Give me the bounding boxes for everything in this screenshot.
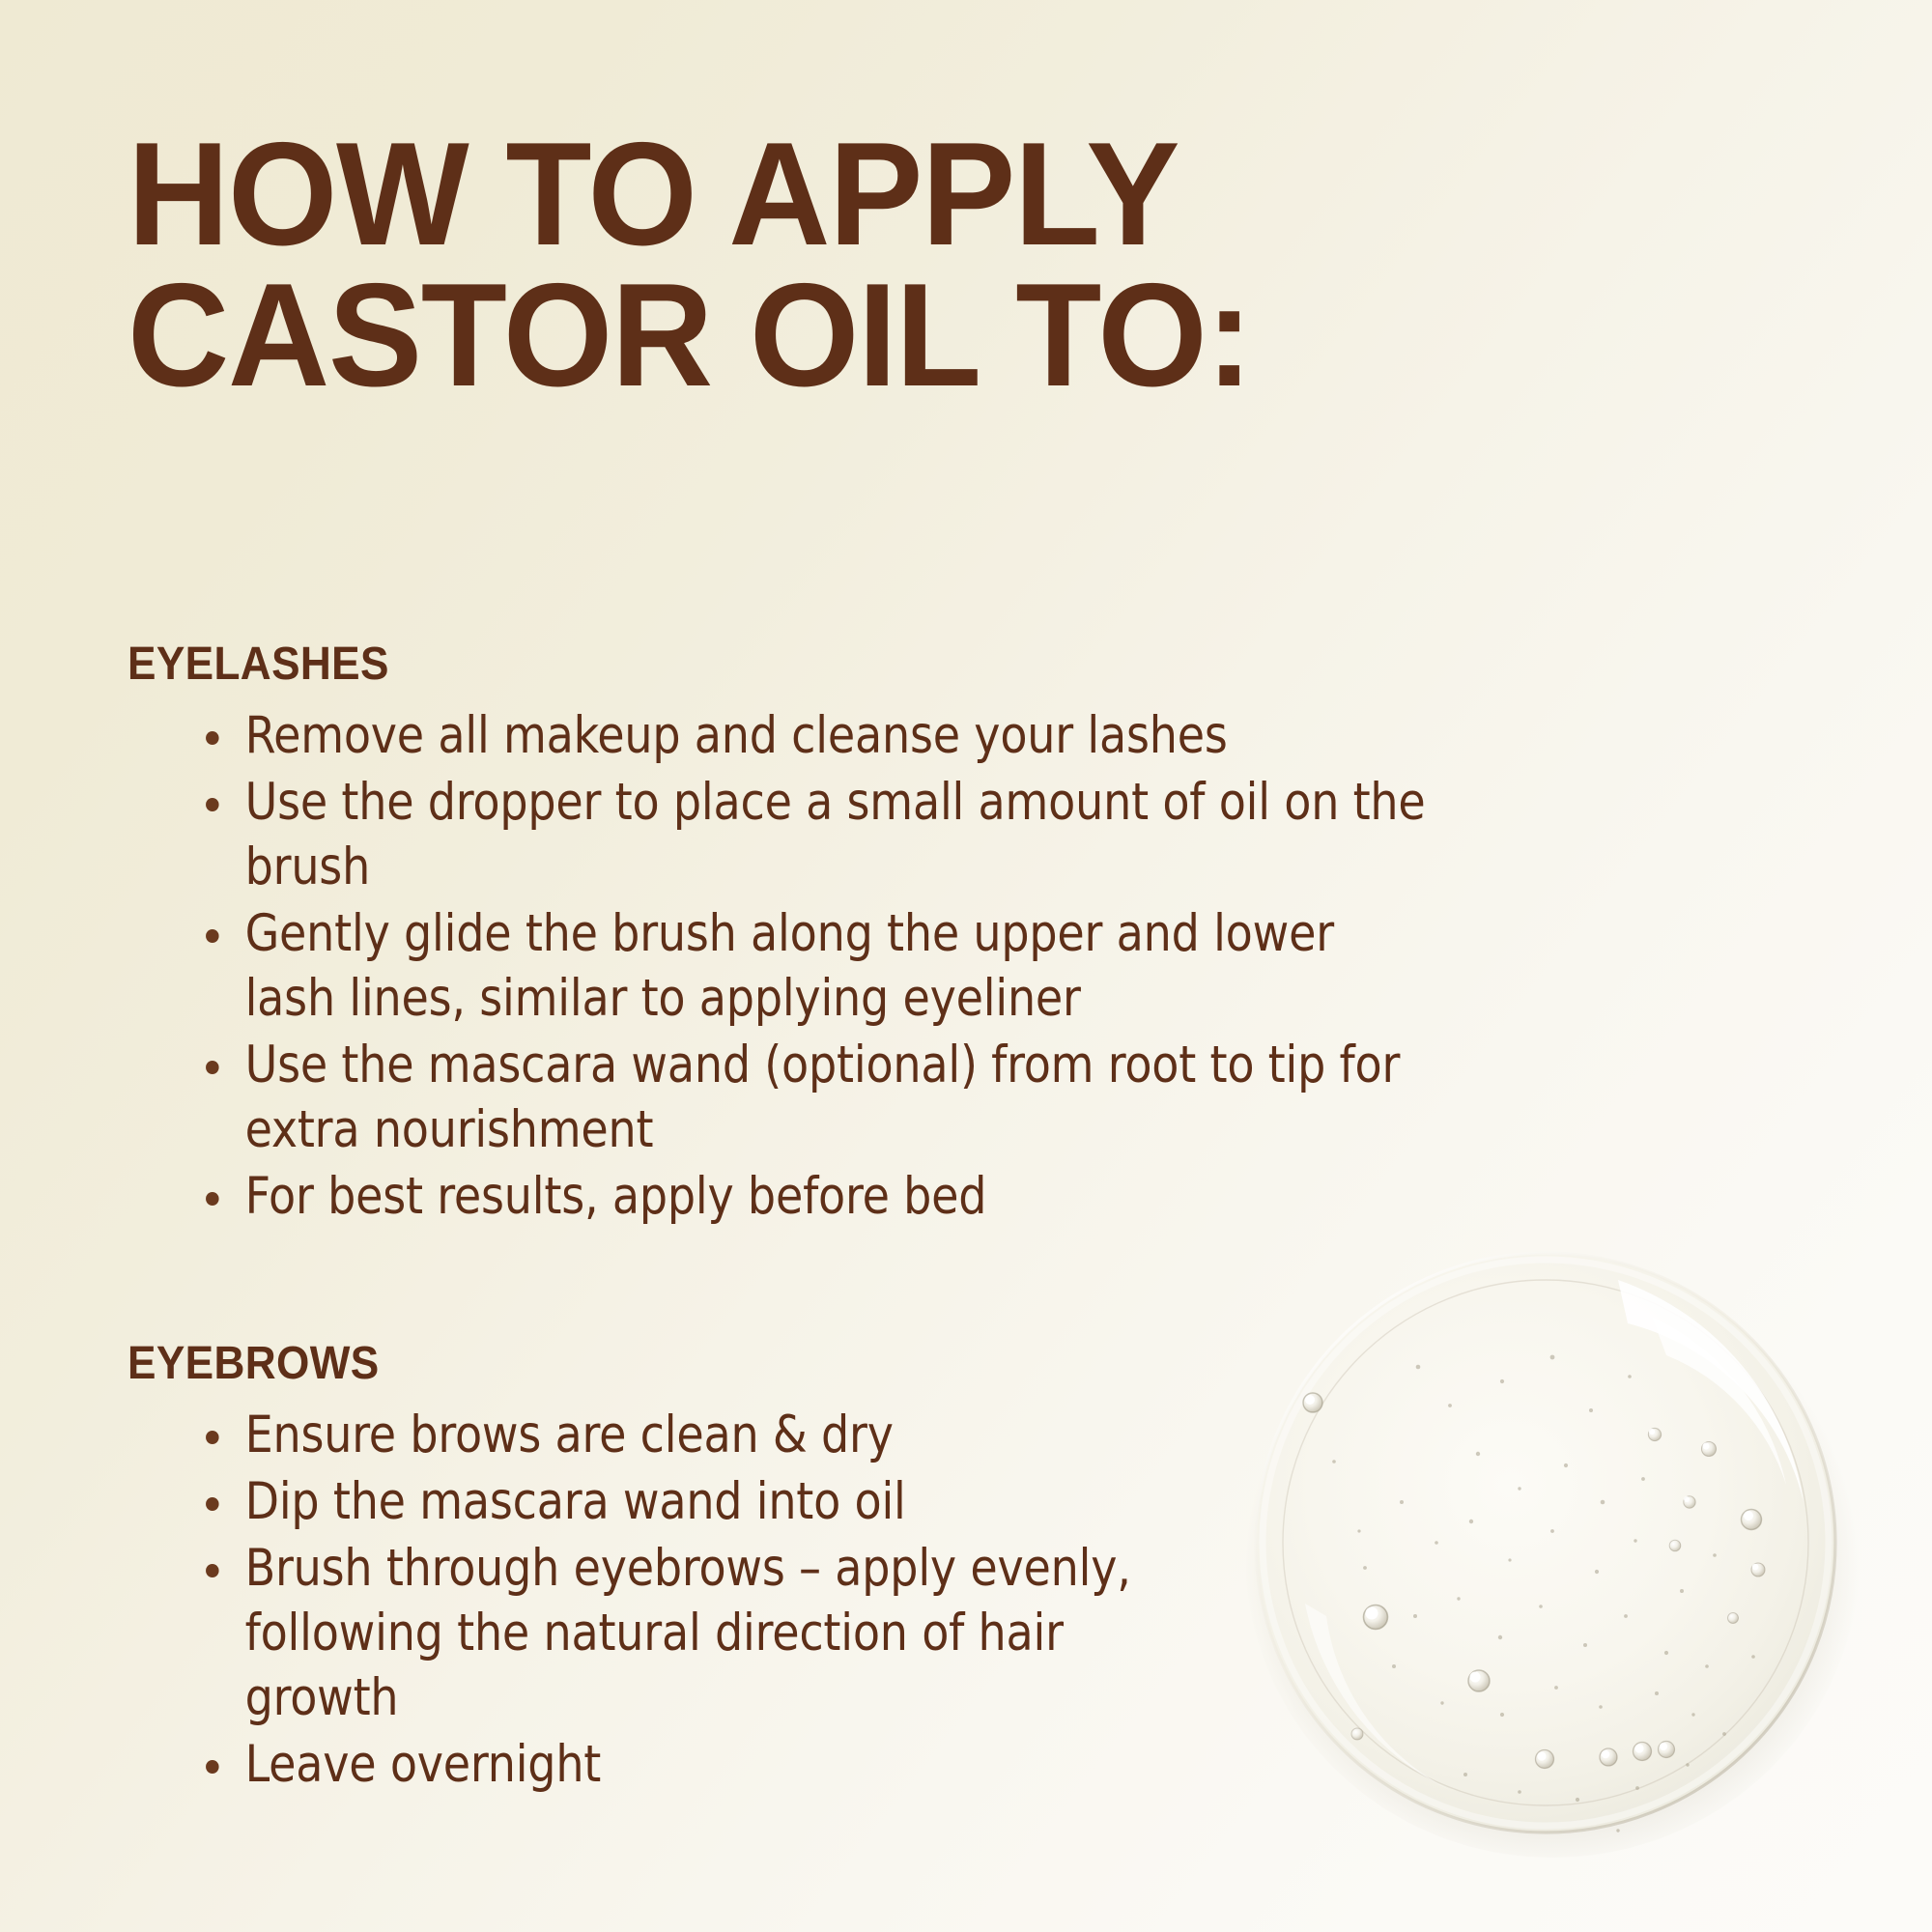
bullet-list-eyelashes: Remove all makeup and cleanse your lashe… (128, 703, 1480, 1229)
section-eyelashes: EYELASHES Remove all makeup and cleanse … (128, 638, 1480, 1229)
list-item: Remove all makeup and cleanse your lashe… (128, 703, 1433, 768)
list-item: For best results, apply before bed (128, 1164, 1433, 1229)
list-item: Use the mascara wand (optional) from roo… (128, 1033, 1433, 1162)
title-line-1: HOW TO APPLY (128, 124, 1482, 265)
list-item: Ensure brows are clean & dry (128, 1403, 1196, 1467)
list-item: Use the dropper to place a small amount … (128, 770, 1433, 899)
instructions-content: EYELASHES Remove all makeup and cleanse … (128, 638, 1480, 1799)
list-item: Leave overnight (128, 1732, 1196, 1797)
list-item: Brush through eyebrows – apply evenly, f… (128, 1536, 1196, 1730)
section-heading-eyebrows: EYEBROWS (128, 1337, 1372, 1391)
section-heading-eyelashes: EYELASHES (128, 638, 1372, 692)
list-item: Dip the mascara wand into oil (128, 1469, 1196, 1534)
page-title: HOW TO APPLY CASTOR OIL TO: (128, 124, 1538, 406)
list-item: Gently glide the brush along the upper a… (128, 901, 1433, 1031)
infographic-poster: HOW TO APPLY CASTOR OIL TO: EYELASHES Re… (0, 0, 1932, 1932)
bullet-list-eyebrows: Ensure brows are clean & dry Dip the mas… (128, 1403, 1480, 1797)
section-eyebrows: EYEBROWS Ensure brows are clean & dry Di… (128, 1337, 1480, 1797)
title-line-2: CASTOR OIL TO: (128, 265, 1482, 406)
